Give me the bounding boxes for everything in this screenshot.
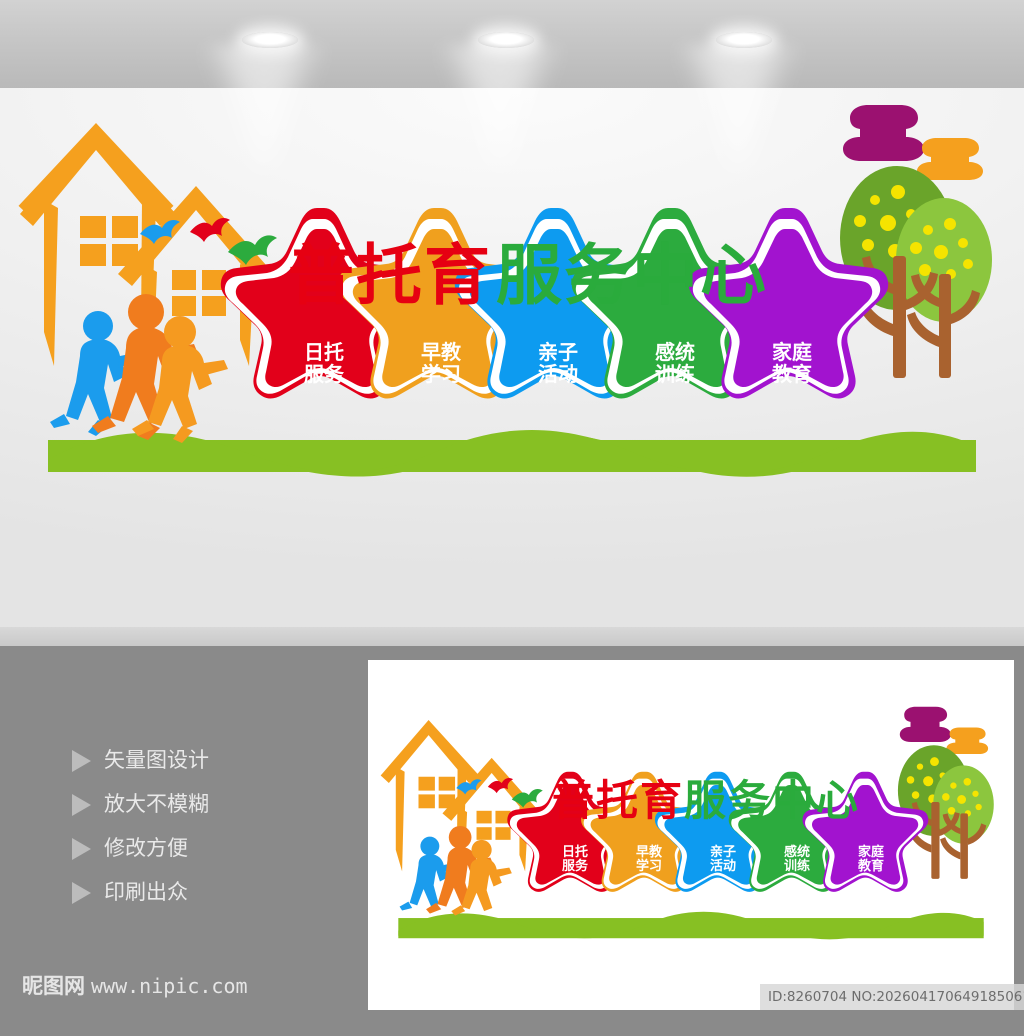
- bullet-arrow-icon-3: [72, 838, 91, 860]
- preview-cloud-orange: [946, 728, 988, 754]
- screenshot-stage: 普托育 服务中心 日托 服务 早教 学习 亲子 活动 感统 训练: [0, 0, 1024, 1024]
- star-badge-label-2[interactable]: 早教 学习: [389, 318, 493, 410]
- preview-house-right-window: [477, 811, 511, 840]
- badge-line-2: 活动: [710, 860, 736, 874]
- preview-cloud-purple: [900, 707, 951, 742]
- image-id-tag: ID:8260704 NO:20260417064918506106: [760, 984, 1024, 1010]
- feature-item-3: 修改方便: [104, 838, 188, 859]
- artwork-preview-card[interactable]: 普托育 服务中心 日托 服务 早教 学习 亲子 活动: [368, 660, 1014, 1010]
- cloud-icon-orange: [917, 138, 983, 180]
- house-right-window: [172, 270, 226, 316]
- preview-badge-5[interactable]: 家庭 教育: [838, 830, 904, 890]
- badge-line-1: 亲子: [538, 342, 578, 364]
- site-name-cn: 昵图网: [22, 974, 85, 998]
- bullet-arrow-icon-2: [72, 794, 91, 816]
- feature-item-2: 放大不模糊: [104, 794, 209, 815]
- preview-grass-wave: [398, 912, 983, 940]
- page-title-red: 普托育: [288, 222, 492, 318]
- bullet-arrow-icon-4: [72, 882, 91, 904]
- cloud-icon-purple: [843, 105, 924, 161]
- preview-house-left-window: [418, 777, 455, 809]
- page-title-green: 服务中心: [496, 222, 768, 318]
- preview-house-left-wall-l: [396, 767, 405, 872]
- badge-line-1: 家庭: [858, 846, 884, 860]
- preview-badge-2[interactable]: 早教 学习: [616, 830, 682, 890]
- preview-panel: 矢量图设计 放大不模糊 修改方便 印刷出众: [0, 646, 1024, 1024]
- preview-title-green: 服务中心: [684, 767, 860, 828]
- bullet-arrow-icon-1: [72, 750, 91, 772]
- star-badge-label-5[interactable]: 家庭 教育: [740, 318, 844, 410]
- badge-line-2: 训练: [655, 364, 695, 386]
- feature-item-4: 印刷出众: [104, 882, 188, 903]
- star-badge-label-1[interactable]: 日托 服务: [272, 318, 376, 410]
- preview-title-red: 普托育: [552, 767, 684, 828]
- badge-line-2: 学习: [421, 364, 461, 386]
- star-badge-label-3[interactable]: 亲子 活动: [506, 318, 610, 410]
- house-left-window: [80, 216, 138, 266]
- wall-mockup-scene: 普托育 服务中心 日托 服务 早教 学习 亲子 活动 感统 训练: [0, 0, 1024, 646]
- badge-line-2: 学习: [636, 860, 662, 874]
- badge-line-1: 感统: [784, 846, 810, 860]
- badge-line-1: 早教: [421, 342, 461, 364]
- site-watermark: 昵图网www.nipic.com: [22, 970, 248, 1000]
- badge-line-2: 服务: [304, 364, 344, 386]
- badge-line-2: 活动: [538, 364, 578, 386]
- badge-line-2: 教育: [858, 860, 884, 874]
- preview-badge-1[interactable]: 日托 服务: [542, 830, 608, 890]
- badge-line-1: 感统: [655, 342, 695, 364]
- ceiling-spotlight-icon-1: [242, 32, 298, 48]
- house-left-wall-left: [44, 200, 58, 366]
- badge-line-1: 日托: [562, 846, 588, 860]
- preview-badge-4[interactable]: 感统 训练: [764, 830, 830, 890]
- badge-line-2: 教育: [772, 364, 812, 386]
- ceiling-spotlight-icon-2: [478, 32, 534, 48]
- badge-line-1: 日托: [304, 342, 344, 364]
- site-url: www.nipic.com: [91, 974, 248, 998]
- ceiling-spotlight-icon-3: [716, 32, 772, 48]
- badge-line-2: 服务: [562, 860, 588, 874]
- badge-line-1: 家庭: [772, 342, 812, 364]
- badge-line-2: 训练: [784, 860, 810, 874]
- floor-strip: [0, 627, 1024, 646]
- feature-item-1: 矢量图设计: [104, 750, 209, 771]
- badge-line-1: 早教: [636, 846, 662, 860]
- preview-badge-3[interactable]: 亲子 活动: [690, 830, 756, 890]
- badge-line-1: 亲子: [710, 846, 736, 860]
- star-badge-label-4[interactable]: 感统 训练: [623, 318, 727, 410]
